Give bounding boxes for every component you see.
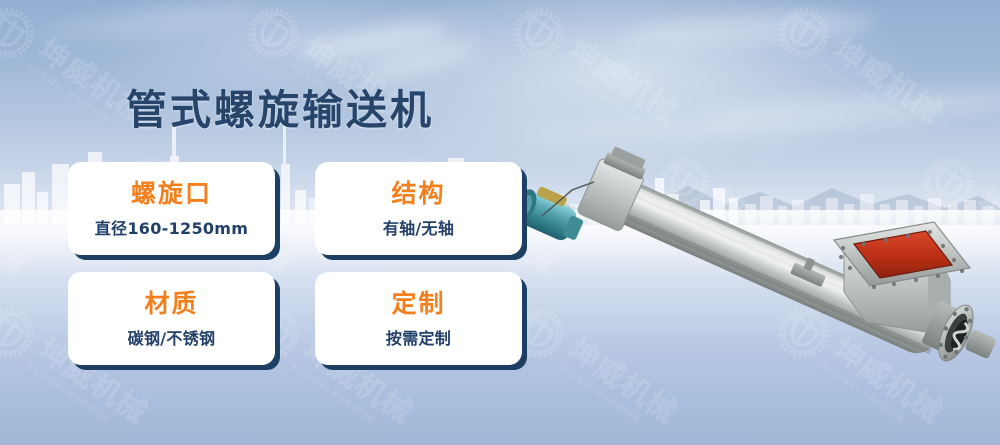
page-title: 管式螺旋输送机 [0,76,560,136]
card-subtitle: 有轴/无轴 [383,215,454,239]
card-subtitle: 直径160-1250mm [95,215,249,239]
card-title: 定制 [391,290,445,319]
card-subtitle: 按需定制 [386,325,451,349]
feature-card-screw-opening[interactable]: 螺旋口 直径160-1250mm [68,162,275,255]
card-subtitle: 碳钢/不锈钢 [128,325,216,349]
card-title: 结构 [391,180,445,209]
feature-card-grid: 螺旋口 直径160-1250mm 结构 有轴/无轴 材质 碳钢/不锈钢 定制 按… [68,162,528,365]
card-title: 螺旋口 [131,180,212,209]
card-title: 材质 [144,290,198,319]
feature-card-customization[interactable]: 定制 按需定制 [315,272,522,365]
product-banner: 坤威机械 KUNWEI MACHINE 坤威机械 [0,0,1000,445]
feature-card-material[interactable]: 材质 碳钢/不锈钢 [68,272,275,365]
product-image-tubular-screw-conveyor [498,140,1000,395]
feature-card-structure[interactable]: 结构 有轴/无轴 [315,162,522,255]
